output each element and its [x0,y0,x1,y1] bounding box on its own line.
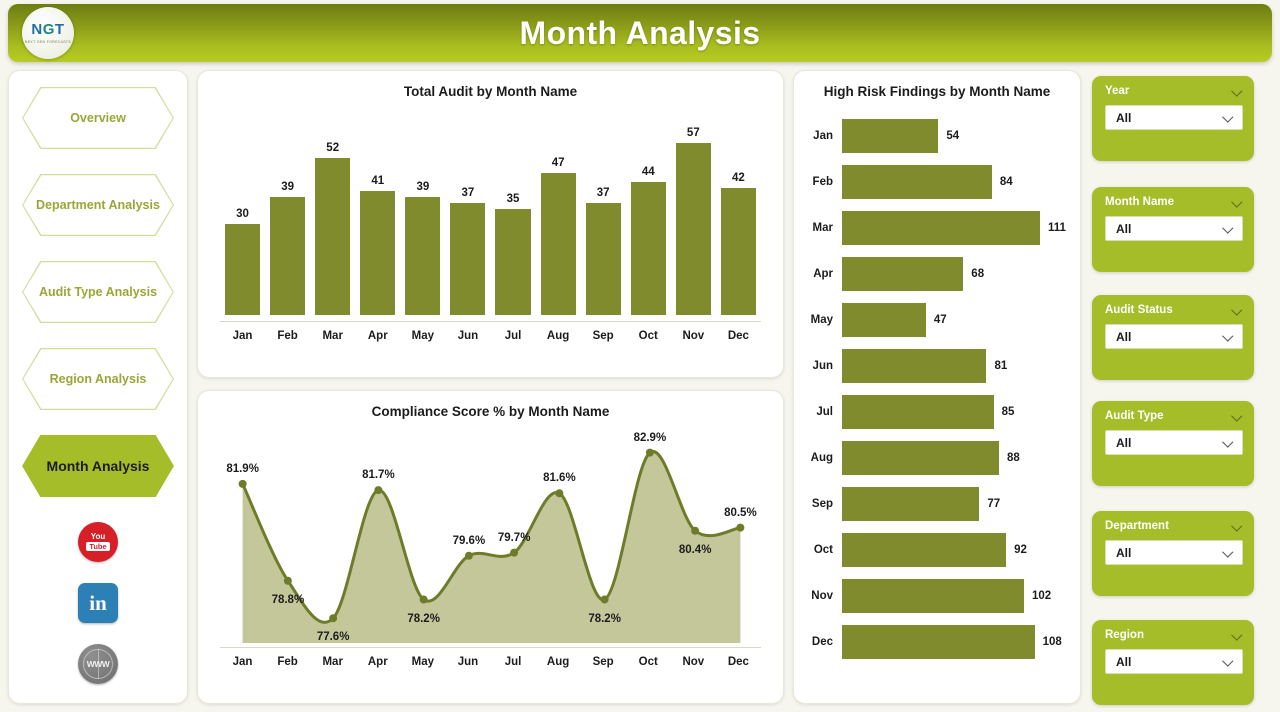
x-axis-tick: Aug [536,322,581,351]
x-axis-labels: JanFebMarAprMayJunJulAugSepOctNovDec [220,647,761,677]
x-axis-tick: May [400,648,445,677]
slicer-header: Audit Type [1105,410,1243,422]
compliance-score-area-chart: 81.9%78.8%77.6%81.7%78.2%79.6%79.7%81.6%… [198,419,783,677]
bar-item[interactable]: 57 [676,109,711,315]
data-point-label: 79.7% [498,532,531,544]
x-axis-tick: May [400,322,445,351]
bar-rect[interactable] [586,203,621,315]
bar-item[interactable]: May47 [802,297,1066,343]
slicer-header: Department [1105,520,1243,532]
slicer-month-name[interactable]: Month Name All [1092,187,1254,272]
slicer-department[interactable]: Department All [1092,511,1254,596]
bar-item[interactable]: Feb84 [802,159,1066,205]
bar-item[interactable]: 44 [631,109,666,315]
data-point[interactable] [510,549,518,557]
chart-title: Compliance Score % by Month Name [198,391,783,419]
bar-value-label: 30 [236,208,249,220]
data-point-label: 80.4% [679,544,712,556]
x-axis-tick: Jul [490,648,535,677]
bar-item[interactable]: 37 [586,109,621,315]
bar-value-label: 47 [934,314,947,326]
x-axis-tick: Jun [445,322,490,351]
slicer-label: Year [1105,85,1129,97]
slicer-header: Month Name [1105,196,1243,208]
bar-value-label: 102 [1032,590,1051,602]
y-axis-tick: Jul [802,406,842,418]
high-risk-findings-chart-card: High Risk Findings by Month Name Jan54Fe… [793,70,1081,704]
chevron-down-icon[interactable] [1223,547,1234,558]
chart-title: Total Audit by Month Name [198,71,783,99]
y-axis-tick: Feb [802,176,842,188]
x-axis-tick: Apr [355,322,400,351]
chevron-down-icon[interactable] [1223,331,1234,342]
bar-rect[interactable] [631,182,666,315]
bar-rect[interactable] [842,533,1006,567]
bar-value-label: 35 [507,193,520,205]
logo-tagline: NEXT GEN FORECASTS [25,40,71,44]
bar-value-label: 81 [994,360,1007,372]
x-axis-tick: Apr [355,648,400,677]
data-point[interactable] [465,552,473,560]
bar-item[interactable]: 52 [315,109,350,315]
sidebar-item-label: Overview [70,111,126,125]
total-audit-bar-chart: 303952413937354737445742 JanFebMarAprMay… [198,99,783,351]
slicer-value: All [1116,655,1131,669]
data-point-label: 78.2% [588,613,621,625]
sidebar-item-label: Month Analysis [47,458,150,474]
bar-item[interactable]: 39 [405,109,440,315]
x-axis-tick: Oct [626,648,671,677]
slicer-dropdown[interactable]: All [1105,324,1243,349]
chevron-down-icon[interactable] [1232,411,1243,422]
bar-rect[interactable] [842,119,938,153]
bar-value-label: 85 [1002,406,1015,418]
chevron-down-icon[interactable] [1232,197,1243,208]
bar-rect[interactable] [842,441,999,475]
slicer-dropdown[interactable]: All [1105,430,1243,455]
bar-item[interactable]: Mar111 [802,205,1066,251]
x-axis-tick: Feb [265,322,310,351]
bar-item[interactable]: 47 [541,109,576,315]
x-axis-tick: Jan [220,322,265,351]
bar-rect[interactable] [450,203,485,315]
bar-item[interactable]: 35 [495,109,530,315]
sidebar-item-label: Audit Type Analysis [39,285,157,299]
chevron-down-icon[interactable] [1232,630,1243,641]
bar-value-label: 68 [971,268,984,280]
bar-item[interactable]: Oct92 [802,527,1066,573]
y-axis-tick: Aug [802,452,842,464]
bar-value-label: 108 [1043,636,1062,648]
slicer-label: Department [1105,520,1169,532]
area-series [220,425,763,643]
sidebar-item-audit-type-analysis[interactable]: Audit Type Analysis [22,261,174,323]
bar-rect[interactable] [842,211,1040,245]
youtube-icon[interactable]: You Tube [78,522,118,562]
x-axis-tick: Jan [220,648,265,677]
bar-value-label: 44 [642,166,655,178]
page-header: Month Analysis [8,4,1272,62]
slicer-dropdown[interactable]: All [1105,540,1243,565]
y-axis-tick: Jan [802,130,842,142]
social-links: You Tube in WWW [9,522,187,684]
data-point[interactable] [555,489,563,497]
bar-value-label: 92 [1014,544,1027,556]
data-point-label: 80.5% [724,507,757,519]
data-point-label: 81.6% [543,472,576,484]
bar-rect[interactable] [842,395,994,429]
bar-value-label: 54 [946,130,959,142]
sidebar-item-department-analysis[interactable]: Department Analysis [22,174,174,236]
bar-value-label: 41 [371,175,384,187]
data-point-label: 78.2% [407,613,440,625]
slicer-header: Audit Status [1105,304,1243,316]
x-axis-tick: Mar [310,322,355,351]
bar-rect[interactable] [676,143,711,315]
slicer-value: All [1116,222,1131,236]
bar-series: 303952413937354737445742 [220,109,761,315]
bar-rect[interactable] [842,625,1035,659]
bar-value-label: 47 [552,157,565,169]
high-risk-bar-series: Jan54Feb84Mar111Apr68May47Jun81Jul85Aug8… [794,99,1080,665]
compliance-score-chart-card: Compliance Score % by Month Name 81.9%78… [197,390,784,704]
bar-value-label: 39 [416,181,429,193]
chevron-down-icon[interactable] [1232,521,1243,532]
bar-value-label: 52 [326,142,339,154]
bar-value-label: 77 [987,498,1000,510]
x-axis-tick: Nov [671,648,716,677]
x-axis-tick: Mar [310,648,355,677]
y-axis-tick: Oct [802,544,842,556]
slicer-region[interactable]: Region All [1092,620,1254,705]
slicer-year[interactable]: Year All [1092,76,1254,161]
data-point-label: 81.7% [362,469,395,481]
slicer-label: Month Name [1105,196,1174,208]
data-point[interactable] [646,449,654,457]
slicer-header: Year [1105,85,1243,97]
slicer-dropdown[interactable]: All [1105,216,1243,241]
bar-value-label: 37 [462,187,475,199]
data-point[interactable] [284,577,292,585]
chevron-down-icon[interactable] [1232,305,1243,316]
data-point[interactable] [736,524,744,532]
sidebar-item-region-analysis[interactable]: Region Analysis [22,348,174,410]
bar-item[interactable]: 30 [225,109,260,315]
bar-rect[interactable] [842,579,1024,613]
x-axis-tick: Dec [716,648,761,677]
bar-rect[interactable] [842,165,992,199]
bar-item[interactable]: Jan54 [802,113,1066,159]
bar-item[interactable]: 41 [360,109,395,315]
data-point[interactable] [420,596,428,604]
bar-value-label: 37 [597,187,610,199]
data-point[interactable] [374,486,382,494]
bar-value-label: 111 [1048,222,1066,234]
bar-rect[interactable] [405,197,440,315]
page-title: Month Analysis [520,15,761,52]
data-point[interactable] [601,596,609,604]
data-point-label: 77.6% [317,631,350,643]
slicer-value: All [1116,436,1131,450]
y-axis-tick: Dec [802,636,842,648]
logo-text: NGT [31,22,64,37]
slicer-label: Audit Type [1105,410,1164,422]
chart-title: High Risk Findings by Month Name [794,71,1080,99]
bar-item[interactable]: Sep77 [802,481,1066,527]
bar-rect[interactable] [315,158,350,315]
slicer-header: Region [1105,629,1243,641]
bar-value-label: 84 [1000,176,1013,188]
bar-rect[interactable] [541,173,576,315]
y-axis-tick: Apr [802,268,842,280]
bar-rect[interactable] [842,487,979,521]
data-point[interactable] [239,480,247,488]
bar-rect[interactable] [495,209,530,315]
chevron-down-icon[interactable] [1223,223,1234,234]
x-axis-tick: Sep [581,322,626,351]
x-axis-tick: Dec [716,322,761,351]
x-axis-tick: Jun [445,648,490,677]
bar-item[interactable]: 39 [270,109,305,315]
data-point[interactable] [329,614,337,622]
bar-value-label: 57 [687,127,700,139]
data-point-label: 79.6% [453,535,486,547]
x-axis-labels: JanFebMarAprMayJunJulAugSepOctNovDec [220,321,761,351]
data-point[interactable] [691,527,699,535]
chevron-down-icon[interactable] [1223,656,1234,667]
bar-value-label: 88 [1007,452,1020,464]
sidebar-item-overview[interactable]: Overview [22,87,174,149]
slicer-label: Audit Status [1105,304,1173,316]
sidebar-navigation: Overview Department Analysis Audit Type … [8,70,188,704]
bar-item[interactable]: Dec108 [802,619,1066,665]
chevron-down-icon[interactable] [1223,437,1234,448]
y-axis-tick: Nov [802,590,842,602]
slicer-label: Region [1105,629,1144,641]
x-axis-tick: Oct [626,322,671,351]
bar-rect[interactable] [721,188,756,315]
slicer-value: All [1116,546,1131,560]
slicer-value: All [1116,330,1131,344]
bar-item[interactable]: Apr68 [802,251,1066,297]
y-axis-tick: Mar [802,222,842,234]
data-point-label: 78.8% [272,594,305,606]
bar-rect[interactable] [842,349,986,383]
bar-item[interactable]: Jul85 [802,389,1066,435]
data-point-label: 81.9% [226,463,259,475]
sidebar-item-month-analysis[interactable]: Month Analysis [22,435,174,497]
bar-rect[interactable] [225,224,260,315]
x-axis-tick: Feb [265,648,310,677]
bar-value-label: 42 [732,172,745,184]
bar-item[interactable]: 37 [450,109,485,315]
bar-rect[interactable] [270,197,305,315]
x-axis-tick: Sep [581,648,626,677]
chevron-down-icon[interactable] [1223,112,1234,123]
y-axis-tick: May [802,314,842,326]
total-audit-chart-card: Total Audit by Month Name 30395241393735… [197,70,784,378]
bar-item[interactable]: Aug88 [802,435,1066,481]
y-axis-tick: Sep [802,498,842,510]
bar-item[interactable]: 42 [721,109,756,315]
chevron-down-icon[interactable] [1232,86,1243,97]
x-axis-tick: Aug [536,648,581,677]
area-fill [243,451,741,643]
bar-rect[interactable] [842,303,926,337]
bar-rect[interactable] [360,191,395,315]
sidebar-item-label: Region Analysis [50,372,147,386]
data-point-label: 82.9% [634,432,667,444]
x-axis-tick: Jul [490,322,535,351]
sidebar-item-label: Department Analysis [36,198,160,212]
slicer-audit-status[interactable]: Audit Status All [1092,295,1254,380]
website-icon[interactable]: WWW [78,644,118,684]
slicer-audit-type[interactable]: Audit Type All [1092,401,1254,486]
slicer-dropdown[interactable]: All [1105,649,1243,674]
bar-item[interactable]: Jun81 [802,343,1066,389]
slicer-value: All [1116,111,1131,125]
bar-value-label: 39 [281,181,294,193]
bar-rect[interactable] [842,257,963,291]
y-axis-tick: Jun [802,360,842,372]
linkedin-icon[interactable]: in [78,583,118,623]
company-logo: NGT NEXT GEN FORECASTS [22,7,74,59]
x-axis-tick: Nov [671,322,716,351]
bar-item[interactable]: Nov102 [802,573,1066,619]
slicer-dropdown[interactable]: All [1105,105,1243,130]
